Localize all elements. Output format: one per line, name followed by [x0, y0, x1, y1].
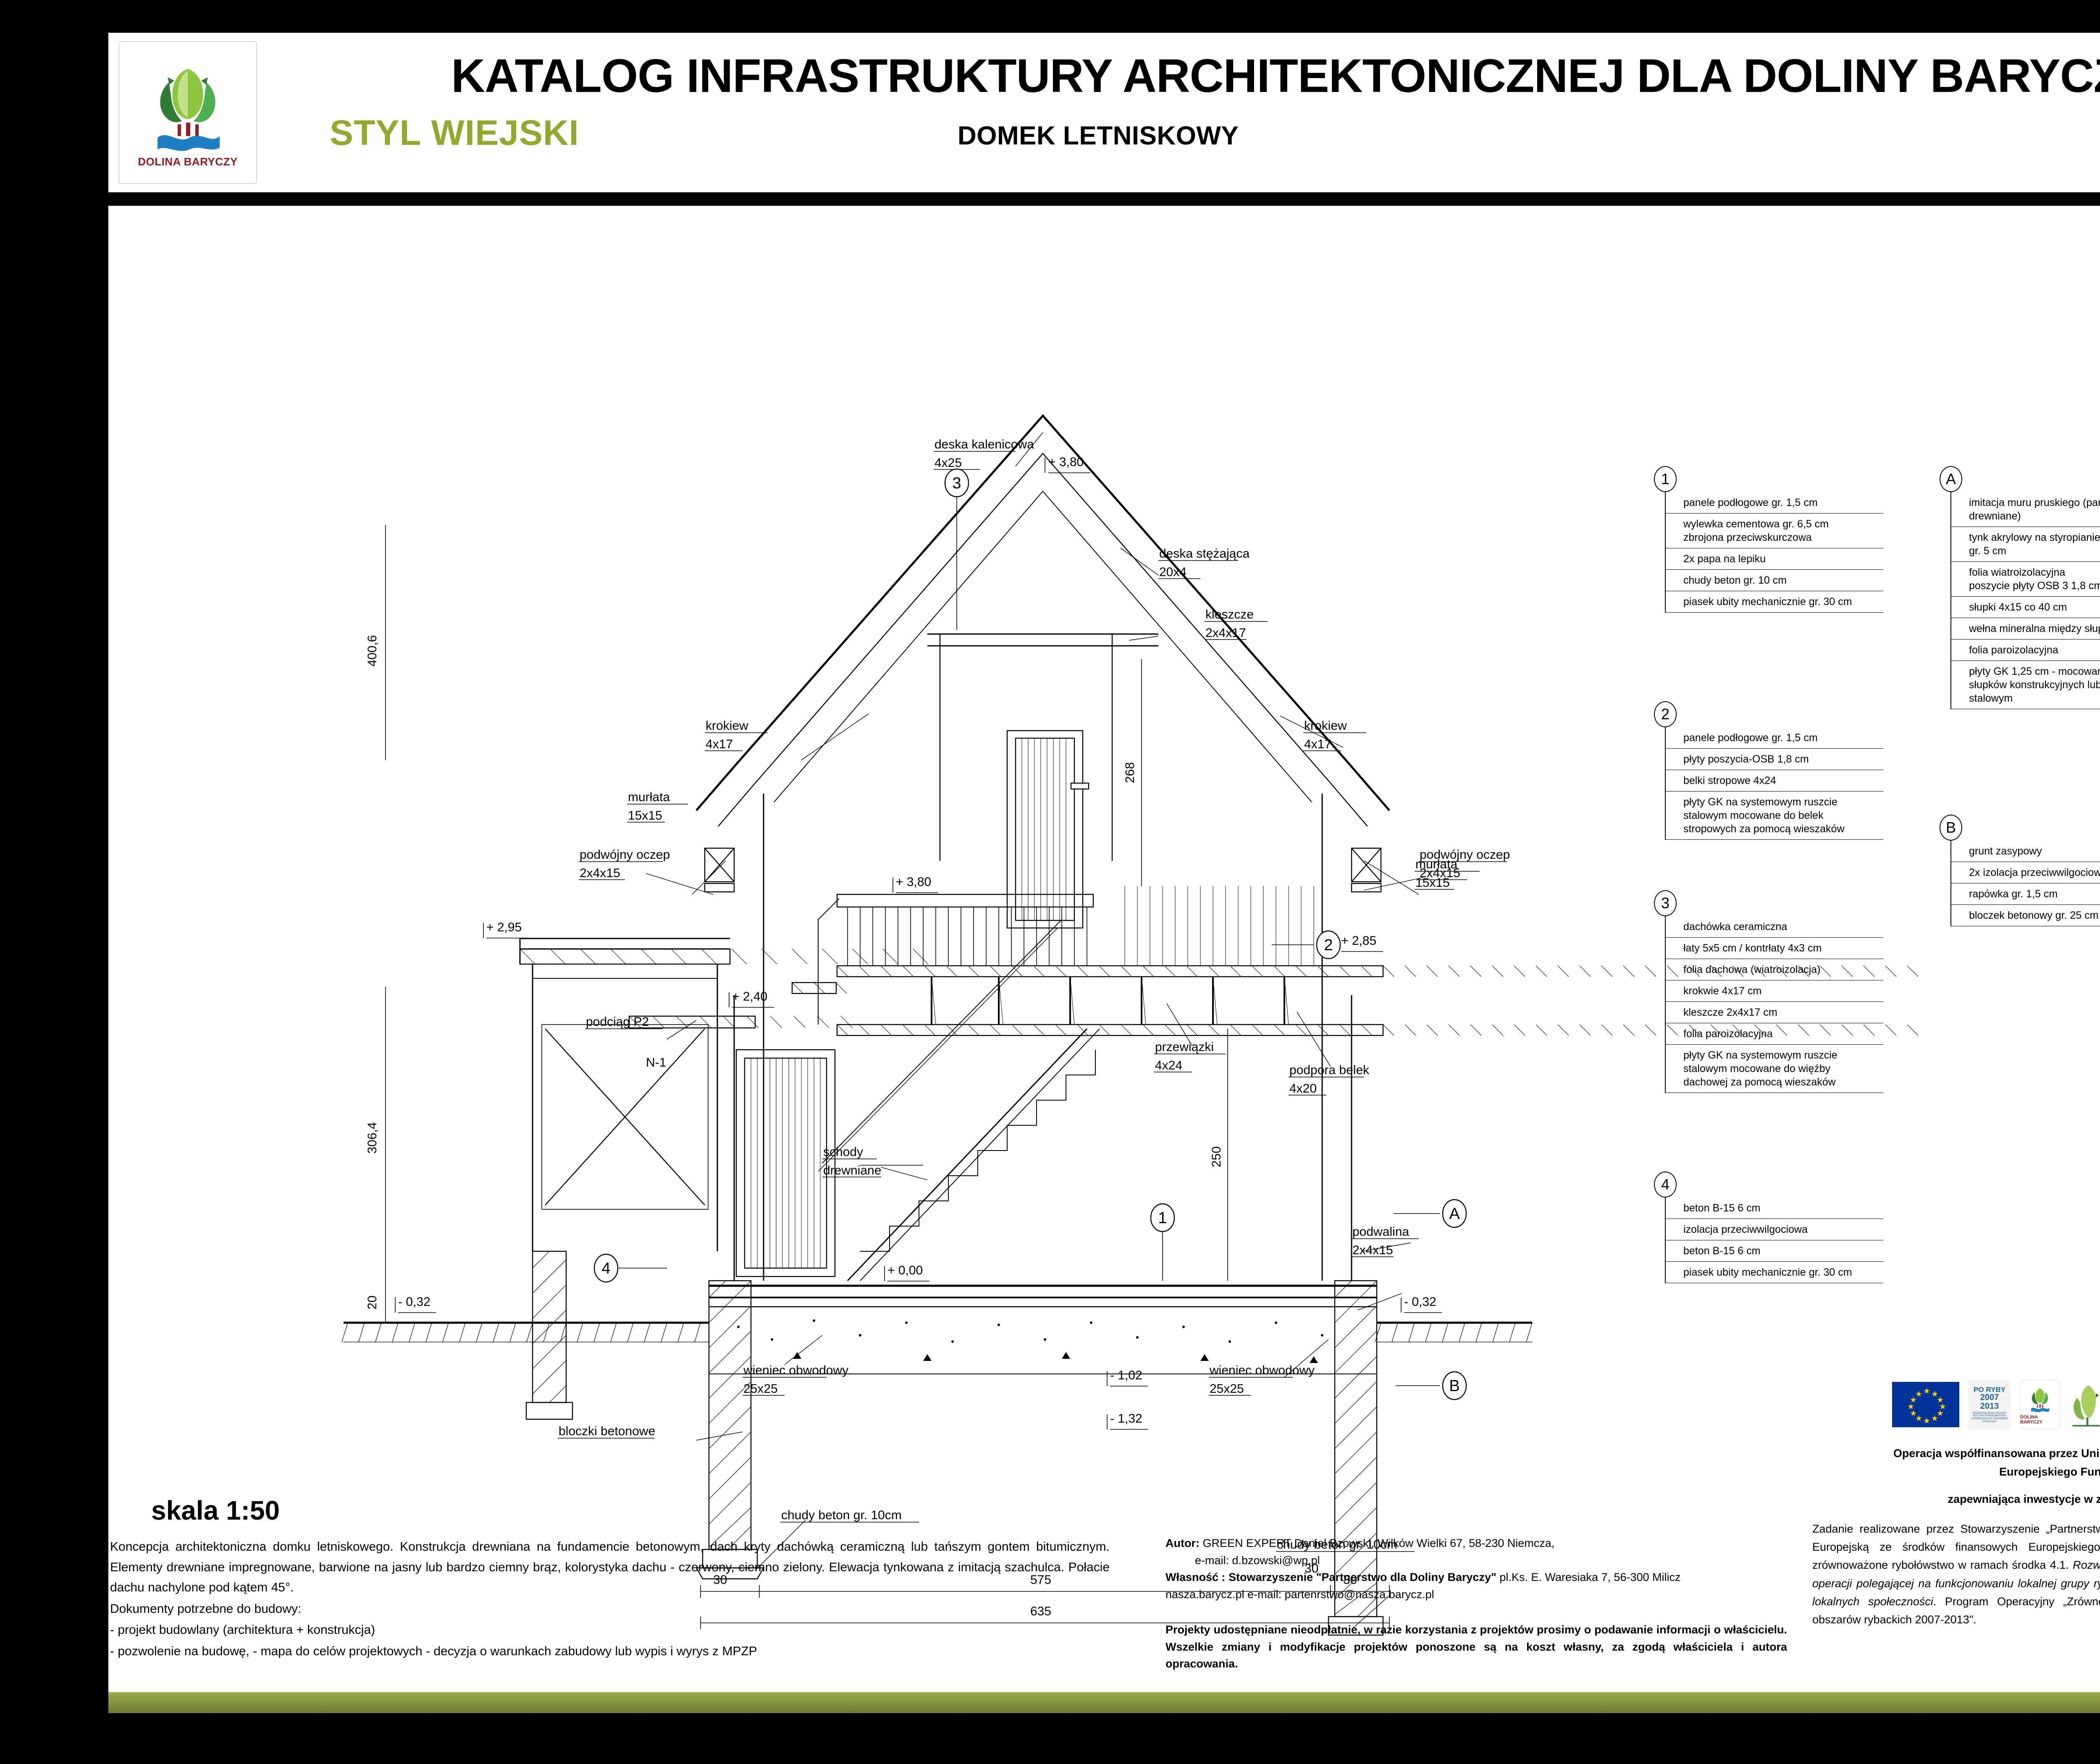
legend-row-text: piasek ubity mechanicznie gr. 30 cm	[1683, 1266, 1852, 1279]
dolina-baryczy-logo: DOLINA BARYCZY	[118, 41, 257, 184]
eu-caption-line-2: Europejskiego Funduszu Rybackiego	[1812, 1463, 2100, 1481]
style-label: STYL WIEJSKI	[330, 113, 579, 153]
legend-rows-3: dachówka ceramiczna łaty 5x5 cm / kontrł…	[1665, 916, 1883, 1093]
legal-notice: Projekty udostępniane nieodpłatnie, w ra…	[1165, 1621, 1787, 1672]
legend-row-text: wylewka cementowa gr. 6,5 cm zbrojona pr…	[1683, 517, 1829, 544]
object-label: DOMEK LETNISKOWY	[958, 121, 1239, 151]
svg-text:A: A	[1449, 1205, 1460, 1223]
svg-text:podpora belek: podpora belek	[1289, 1063, 1370, 1077]
svg-text:2x4x15: 2x4x15	[580, 866, 620, 880]
author-label: Autor:	[1165, 1537, 1200, 1549]
eu-funding-caption: Operacja współfinansowana przez Unię Eur…	[1812, 1444, 2100, 1509]
legend-row-text: płyty poszycia-OSB 1,8 cm	[1683, 752, 1809, 766]
legend-row-text: izolacja przeciwwilgociowa	[1683, 1223, 1808, 1236]
description-block: Koncepcja architektoniczna domku letnisk…	[110, 1537, 1110, 1663]
legend-row: rapówka gr. 1,5 cm	[1951, 883, 2100, 905]
legend-row: beton B-15 6 cm	[1666, 1198, 1883, 1219]
legend-row: 2x papa na lepiku	[1666, 548, 1883, 570]
legend-row-text: tynk akrylowy na styropianie ryflowanym …	[1969, 531, 2100, 558]
author-value: GREEN EXPERT Daniel Bzowski, Wilków Wiel…	[1203, 1537, 1555, 1549]
svg-text:wieniec obwodowy: wieniec obwodowy	[743, 1363, 848, 1377]
legend-row-text: 2x izolacja przeciwwilgociowa	[1969, 866, 2100, 879]
description-paragraph: - projekt budowlany (architektura + kons…	[110, 1620, 1110, 1641]
legend-row: łaty 5x5 cm / kontrłaty 4x3 cm	[1666, 938, 1883, 959]
owner-web: nasza.barycz.pl e-mail: partenrstwo@nasz…	[1165, 1586, 1787, 1603]
svg-text:4x24: 4x24	[1155, 1059, 1182, 1072]
legend-row: piasek ubity mechanicznie gr. 30 cm	[1666, 1262, 1883, 1283]
legend-row-text: panele podłogowe gr. 1,5 cm	[1683, 731, 1818, 744]
svg-text:+ 0,00: + 0,00	[887, 1263, 923, 1277]
eu-body-part-1: Zadanie realizowane przez Stowarzyszenie…	[1812, 1523, 2100, 1571]
legend-row-text: dachówka ceramiczna	[1683, 920, 1787, 933]
legend-row-text: grunt zasypowy	[1969, 844, 2042, 858]
legend-row: folia dachowa (wiatroizolacja)	[1666, 959, 1883, 980]
legend-row: folia paroizolacyjna	[1666, 1023, 1883, 1045]
po-ryby-subtitle: ZRÓWNOWAŻONY ROZWÓJ SEKTORA RYBOŁÓWSTWA …	[1969, 1412, 2011, 1423]
author-email: e-mail: d.bzowski@wp.pl	[1165, 1552, 1787, 1569]
legend-row-text: płyty GK na systemowym ruszcie stalowym …	[1683, 795, 1845, 836]
description-paragraph: - pozwolenie na budowę, - mapa do celów …	[110, 1641, 1110, 1662]
svg-text:drewniane: drewniane	[823, 1164, 881, 1177]
author-line: Autor: GREEN EXPERT Daniel Bzowski, Wilk…	[1165, 1535, 1787, 1552]
svg-text:podwójny oczep: podwójny oczep	[1420, 848, 1510, 862]
dolina-baryczy-logo-art	[137, 57, 238, 154]
legend-rows-4: beton B-15 6 cm izolacja przeciwwilgocio…	[1665, 1198, 1883, 1283]
svg-text:268: 268	[1123, 762, 1137, 783]
svg-text:4x17: 4x17	[1304, 737, 1331, 751]
legend-row: wełna mineralna między słupkami 15 cm	[1951, 618, 2100, 640]
svg-text:- 1,32: - 1,32	[1110, 1412, 1142, 1426]
svg-text:4x25: 4x25	[934, 456, 962, 470]
legend-row-text: chudy beton gr. 10 cm	[1683, 574, 1787, 587]
svg-text:20x4: 20x4	[1159, 565, 1186, 579]
legend-row: krokwie 4x17 cm	[1666, 980, 1883, 1002]
partnerstwo-leaf-icon	[2069, 1381, 2100, 1428]
svg-text:- 1,02: - 1,02	[1110, 1368, 1142, 1382]
owner-label: Własność : Stowarzyszenie "Partnerstwo d…	[1165, 1571, 1496, 1583]
legend-marker-2: 2	[1654, 701, 1677, 727]
legend-row-text: folia paroizolacyjna	[1969, 643, 2058, 657]
legend-marker-4: 4	[1654, 1172, 1677, 1198]
legend-row-text: słupki 4x15 co 40 cm	[1969, 600, 2067, 614]
legend-row-text: piasek ubity mechanicznie gr. 30 cm	[1683, 595, 1852, 608]
svg-text:400,6: 400,6	[365, 635, 379, 666]
dolina-baryczy-caption: DOLINA BARYCZY	[2020, 1415, 2060, 1425]
svg-text:+ 3,80: + 3,80	[896, 875, 931, 889]
svg-text:1: 1	[1158, 1209, 1167, 1227]
svg-text:3: 3	[952, 474, 961, 492]
svg-text:podwalina: podwalina	[1352, 1225, 1409, 1239]
legend-row: belki stropowe 4x24	[1666, 770, 1883, 792]
legend-row-text: płyty GK na systemowym ruszcie stalowym …	[1683, 1048, 1837, 1089]
logo-caption: DOLINA BARYCZY	[138, 155, 238, 168]
svg-text:25x25: 25x25	[1210, 1382, 1244, 1396]
legend-row-text: łaty 5x5 cm / kontrłaty 4x3 cm	[1683, 941, 1822, 955]
eu-funding-body: Zadanie realizowane przez Stowarzyszenie…	[1812, 1520, 2100, 1629]
svg-text:bloczki betonowe: bloczki betonowe	[559, 1424, 655, 1438]
legend-row: panele podłogowe gr. 1,5 cm	[1666, 727, 1883, 749]
svg-text:2: 2	[1324, 936, 1333, 954]
svg-text:krokiew: krokiew	[706, 719, 748, 733]
svg-text:B: B	[1449, 1377, 1459, 1395]
legend-row-text: 2x papa na lepiku	[1683, 552, 1766, 566]
svg-text:2x4x17: 2x4x17	[1205, 626, 1246, 640]
legend-row-text: płyty GK 1,25 cm - mocowane do słupków k…	[1969, 665, 2100, 705]
header-text-area: KATALOG INFRASTRUKTURY ARCHITEKTONICZNEJ…	[265, 33, 2100, 192]
legend-row: piasek ubity mechanicznie gr. 30 cm	[1666, 591, 1883, 613]
svg-text:deska stężająca: deska stężająca	[1159, 547, 1249, 561]
svg-text:306,4: 306,4	[365, 1122, 379, 1153]
legend-row: imitacja muru pruskiego (panele drewnian…	[1951, 492, 2100, 527]
svg-text:- 0,32: - 0,32	[1404, 1295, 1436, 1309]
svg-text:15x15: 15x15	[628, 809, 662, 823]
legend-row-text: folia paroizolacyjna	[1683, 1027, 1773, 1041]
legend-row: folia wiatroizolacyjna poszycie płyty OS…	[1951, 562, 2100, 597]
svg-text:250: 250	[1210, 1146, 1223, 1167]
dolina-baryczy-logo-small: DOLINA BARYCZY	[2020, 1380, 2060, 1429]
po-ryby-logo: PO RYBY 2007 2013 ZRÓWNOWAŻONY ROZWÓJ SE…	[1969, 1380, 2011, 1429]
svg-text:przewiązki: przewiązki	[1155, 1040, 1214, 1054]
legend-row: płyty GK na systemowym ruszcie stalowym …	[1666, 1045, 1883, 1093]
legend-row-text: krokwie 4x17 cm	[1683, 984, 1761, 998]
legend-row: grunt zasypowy	[1951, 841, 2100, 862]
legend-row: beton B-15 6 cm	[1666, 1240, 1883, 1262]
legend-row: izolacja przeciwwilgociowa	[1666, 1219, 1883, 1240]
svg-text:chudy beton gr. 10cm: chudy beton gr. 10cm	[781, 1508, 902, 1522]
svg-text:- 0,32: - 0,32	[398, 1295, 430, 1309]
legend-row: płyty GK 1,25 cm - mocowane do słupków k…	[1951, 661, 2100, 709]
legend-marker-a: A	[1940, 466, 1962, 492]
svg-text:murłata: murłata	[628, 790, 670, 804]
partnerstwo-logo: PARTNERSTWO DLA DOLINY BARYCZY	[2069, 1380, 2100, 1429]
legend-row: wylewka cementowa gr. 6,5 cm zbrojona pr…	[1666, 514, 1883, 548]
legend-marker-3: 3	[1654, 890, 1677, 916]
svg-text:4x20: 4x20	[1289, 1082, 1317, 1096]
footer-green-bar	[108, 1692, 2100, 1713]
svg-text:2x4x15: 2x4x15	[1352, 1243, 1393, 1257]
dolina-baryczy-icon	[2025, 1384, 2055, 1414]
legend-row: 2x izolacja przeciwwilgociowa	[1951, 862, 2100, 883]
svg-text:25x25: 25x25	[743, 1382, 778, 1396]
legend-row-text: wełna mineralna między słupkami 15 cm	[1969, 622, 2100, 635]
description-paragraph: Koncepcja architektoniczna domku letnisk…	[110, 1537, 1110, 1598]
page-root: DOLINA BARYCZY KATALOG INFRASTRUKTURY AR…	[0, 0, 2100, 1764]
svg-text:schody: schody	[823, 1145, 863, 1159]
author-block: Autor: GREEN EXPERT Daniel Bzowski, Wilk…	[1165, 1535, 1787, 1672]
legend-row-text: beton B-15 6 cm	[1683, 1201, 1760, 1215]
svg-text:kleszcze: kleszcze	[1205, 608, 1254, 621]
owner-line: Własność : Stowarzyszenie "Partnerstwo d…	[1165, 1569, 1787, 1586]
description-paragraph: Dokumenty potrzebne do budowy:	[110, 1599, 1110, 1620]
eu-caption-line-1: Operacja współfinansowana przez Unię Eur…	[1812, 1444, 2100, 1463]
legend-row: płyty GK na systemowym ruszcie stalowym …	[1666, 792, 1883, 840]
legend-rows-1: panele podłogowe gr. 1,5 cm wylewka ceme…	[1665, 492, 1883, 613]
legend-row-text: folia dachowa (wiatroizolacja)	[1683, 963, 1821, 976]
legend-marker-b: B	[1940, 815, 1962, 841]
drawing-canvas: deska kalenicowa 4x25 deska stężająca 20…	[108, 206, 2100, 1692]
legend-row: folia paroizolacyjna	[1951, 640, 2100, 661]
legend-rows-2: panele podłogowe gr. 1,5 cm płyty poszyc…	[1665, 727, 1883, 840]
legend-row-text: beton B-15 6 cm	[1683, 1244, 1760, 1258]
svg-text:2x4x15: 2x4x15	[1420, 866, 1460, 880]
legend-row: słupki 4x15 co 40 cm	[1951, 597, 2100, 618]
svg-text:4: 4	[601, 1260, 610, 1277]
svg-text:wieniec obwodowy: wieniec obwodowy	[1209, 1363, 1315, 1377]
legend-marker-1: 1	[1654, 466, 1677, 492]
po-ryby-year1: 2007	[1980, 1393, 1999, 1402]
eu-flag-logo: ★ ★ ★ ★ ★ ★ ★ ★ ★ ★ ★ ★	[1892, 1382, 1959, 1427]
legend-row: dachówka ceramiczna	[1666, 916, 1883, 938]
owner-address: pl.Ks. E. Waresiaka 7, 56-300 Milicz	[1499, 1571, 1680, 1583]
svg-text:N-1: N-1	[646, 1056, 666, 1069]
legend-row-text: belki stropowe 4x24	[1683, 774, 1776, 787]
legend-rows-a: imitacja muru pruskiego (panele drewnian…	[1950, 492, 2100, 709]
svg-text:+ 2,85: + 2,85	[1341, 934, 1376, 948]
legend-rows-b: grunt zasypowy 2x izolacja przeciwwilgoc…	[1950, 841, 2100, 926]
svg-text:krokiew: krokiew	[1304, 719, 1347, 733]
po-ryby-year2: 2013	[1980, 1402, 1999, 1411]
svg-text:podwójny oczep: podwójny oczep	[580, 848, 670, 862]
legend-row: kleszcze 2x4x17 cm	[1666, 1002, 1883, 1023]
svg-text:+ 2,40: + 2,40	[732, 990, 767, 1004]
legend-row-text: kleszcze 2x4x17 cm	[1683, 1006, 1777, 1019]
svg-text:+ 2,95: + 2,95	[486, 920, 522, 934]
legend-row-text: folia wiatroizolacyjna poszycie płyty OS…	[1969, 566, 2100, 592]
legend-row-text: imitacja muru pruskiego (panele drewnian…	[1969, 496, 2100, 523]
legend-row: chudy beton gr. 10 cm	[1666, 570, 1883, 591]
svg-text:20: 20	[365, 1295, 379, 1309]
svg-text:4x17: 4x17	[706, 737, 733, 751]
legend-row: bloczek betonowy gr. 25 cm	[1951, 905, 2100, 926]
legend-row: płyty poszycia-OSB 1,8 cm	[1666, 749, 1883, 770]
page-header: DOLINA BARYCZY KATALOG INFRASTRUKTURY AR…	[108, 33, 2100, 192]
svg-text:deska kalenicowa: deska kalenicowa	[934, 438, 1034, 451]
svg-text:podciąg P2: podciąg P2	[586, 1015, 649, 1029]
legend-row-text: panele podłogowe gr. 1,5 cm	[1683, 496, 1818, 509]
svg-text:+ 3,80: + 3,80	[1048, 455, 1084, 469]
eu-logo-row: ★ ★ ★ ★ ★ ★ ★ ★ ★ ★ ★ ★ PO RYBY 2007 201…	[1892, 1367, 2100, 1442]
legend-row: panele podłogowe gr. 1,5 cm	[1666, 492, 1883, 514]
eu-caption-line-3: zapewniająca inwestycje w zrównoważone r…	[1812, 1490, 2100, 1509]
scale-label: skala 1:50	[151, 1495, 280, 1526]
po-ryby-title: PO RYBY	[1974, 1386, 2005, 1393]
legend-row-text: bloczek betonowy gr. 25 cm	[1969, 909, 2099, 922]
legend-row: tynk akrylowy na styropianie ryflowanym …	[1951, 527, 2100, 562]
legend-row-text: rapówka gr. 1,5 cm	[1969, 887, 2058, 901]
page-title: KATALOG INFRASTRUKTURY ARCHITEKTONICZNEJ…	[311, 49, 2100, 103]
